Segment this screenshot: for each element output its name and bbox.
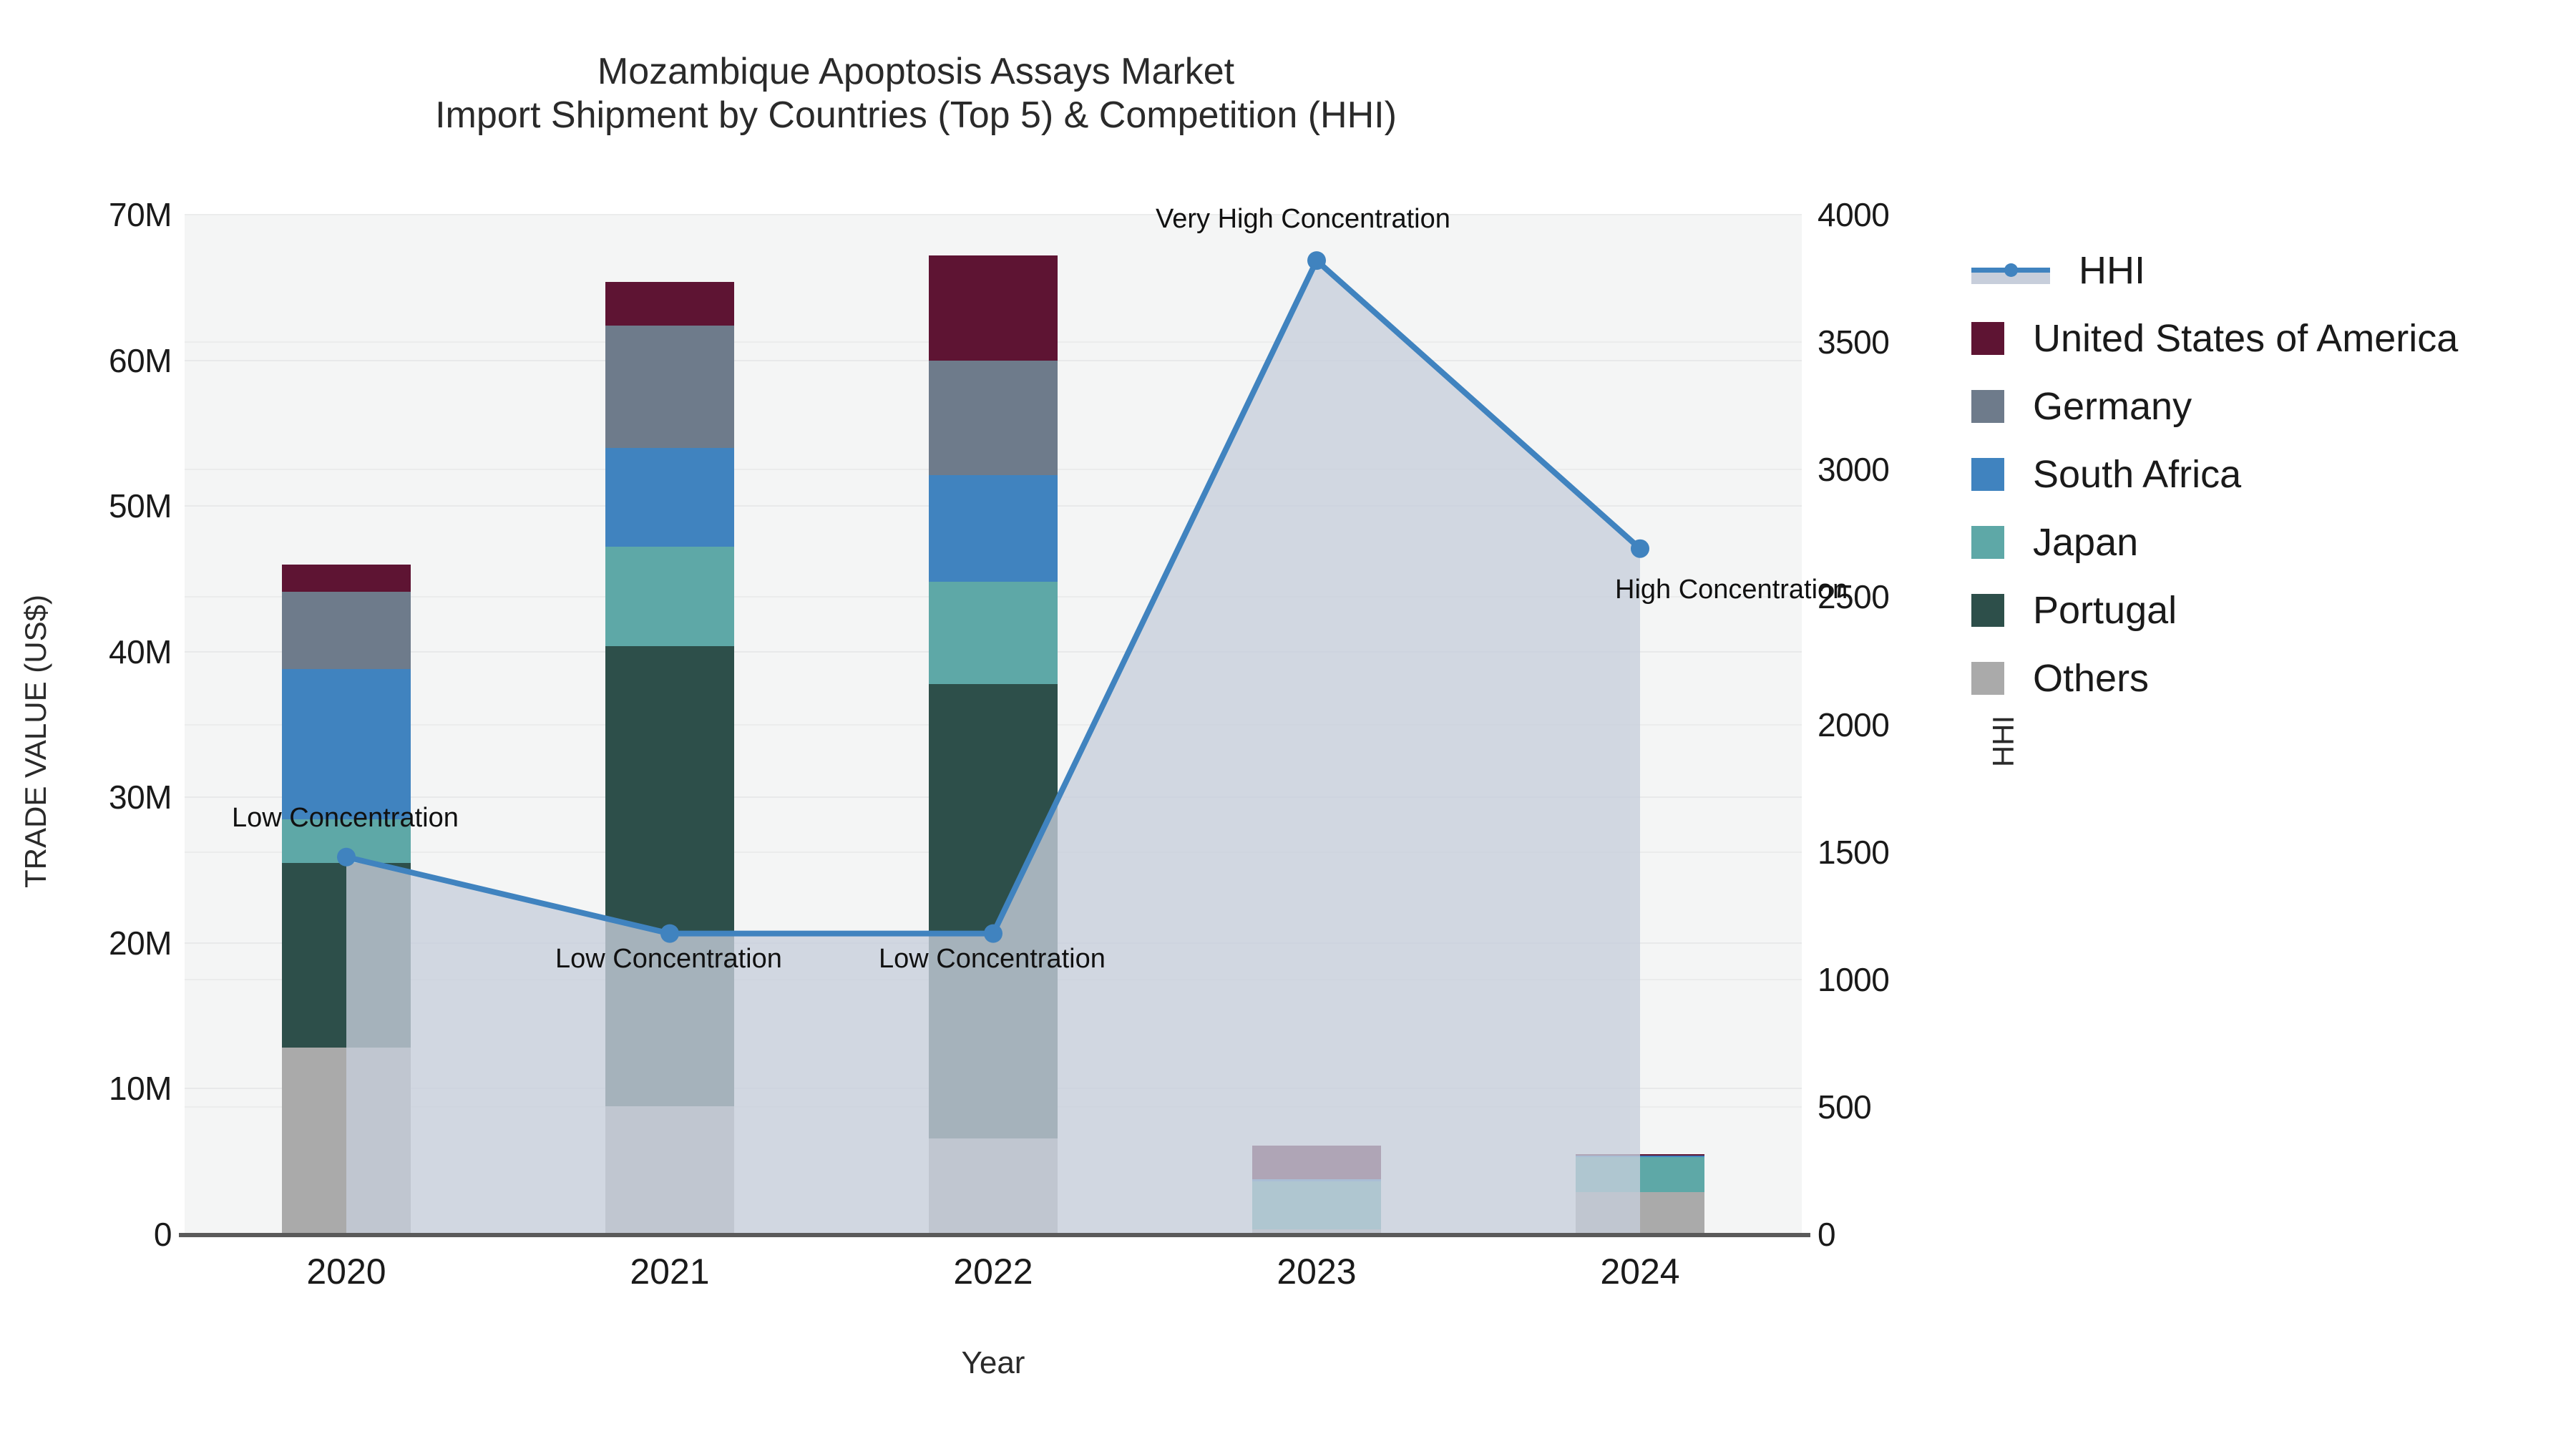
y-axis-right-tick: 3500 — [1818, 323, 1989, 361]
legend-swatch-icon — [1971, 662, 2004, 695]
chart-title: Mozambique Apoptosis Assays Market — [0, 50, 1832, 94]
hhi-data-point[interactable] — [984, 924, 1002, 943]
x-axis-line — [179, 1233, 1810, 1237]
hhi-point-annotation: Very High Concentration — [1156, 204, 1450, 235]
legend-line-marker-icon — [1971, 254, 2050, 287]
legend-item-germany[interactable]: Germany — [1971, 372, 2565, 440]
legend-item-others[interactable]: Others — [1971, 644, 2565, 712]
legend-swatch-icon — [1971, 458, 2004, 491]
legend-item-japan[interactable]: Japan — [1971, 508, 2565, 576]
legend-item-south-africa[interactable]: South Africa — [1971, 440, 2565, 508]
hhi-point-annotation: High Concentration — [1615, 575, 1848, 605]
legend-item-hhi[interactable]: HHI — [1971, 236, 2565, 304]
chart-figure: Mozambique Apoptosis Assays Market Impor… — [0, 0, 2576, 1449]
hhi-data-point[interactable] — [660, 924, 679, 943]
hhi-point-annotation: Low Concentration — [879, 944, 1106, 975]
x-axis-tick-2023: 2023 — [1188, 1251, 1445, 1292]
hhi-series-layer — [185, 215, 1802, 1234]
legend-item-label: Others — [2033, 656, 2149, 701]
legend-item-label: HHI — [2079, 248, 2145, 293]
legend-item-label: South Africa — [2033, 452, 2241, 497]
y-axis-left-title: TRADE VALUE (US$) — [19, 469, 53, 1013]
hhi-data-point[interactable] — [1307, 251, 1326, 270]
hhi-point-annotation: Low Concentration — [232, 803, 459, 834]
y-axis-right-tick: 0 — [1818, 1215, 1989, 1254]
x-axis-tick-2022: 2022 — [864, 1251, 1122, 1292]
legend-item-label: Germany — [2033, 384, 2192, 429]
chart-legend: HHIUnited States of AmericaGermanySouth … — [1971, 236, 2565, 712]
legend-item-label: Japan — [2033, 520, 2138, 565]
hhi-point-annotation: Low Concentration — [555, 944, 782, 975]
y-axis-right-tick: 1000 — [1818, 960, 1989, 999]
y-axis-right-tick: 4000 — [1818, 195, 1989, 234]
chart-title-block: Mozambique Apoptosis Assays Market Impor… — [0, 50, 1832, 138]
legend-item-united-states-of-america[interactable]: United States of America — [1971, 304, 2565, 372]
hhi-data-point[interactable] — [337, 848, 356, 867]
legend-item-label: United States of America — [2033, 316, 2458, 361]
y-axis-left-tick: 60M — [7, 341, 172, 380]
legend-item-portugal[interactable]: Portugal — [1971, 576, 2565, 644]
y-axis-left-tick: 70M — [7, 195, 172, 234]
legend-item-label: Portugal — [2033, 588, 2177, 633]
y-axis-left-tick: 0 — [7, 1215, 172, 1254]
y-axis-left-tick: 10M — [7, 1069, 172, 1108]
legend-swatch-icon — [1971, 390, 2004, 423]
y-axis-right-tick: 2000 — [1818, 706, 1989, 744]
chart-subtitle: Import Shipment by Countries (Top 5) & C… — [0, 94, 1832, 137]
x-axis-tick-2024: 2024 — [1511, 1251, 1769, 1292]
legend-swatch-icon — [1971, 322, 2004, 355]
hhi-area-fill — [346, 260, 1640, 1234]
legend-swatch-icon — [1971, 526, 2004, 559]
x-axis-tick-2020: 2020 — [218, 1251, 475, 1292]
legend-line-dot — [2004, 263, 2018, 277]
y-axis-right-tick: 500 — [1818, 1088, 1989, 1126]
hhi-data-point[interactable] — [1631, 540, 1649, 558]
legend-swatch-icon — [1971, 594, 2004, 627]
y-axis-right-tick: 3000 — [1818, 450, 1989, 489]
x-axis-tick-2021: 2021 — [541, 1251, 799, 1292]
x-axis-title: Year — [185, 1345, 1802, 1381]
y-axis-right-tick: 1500 — [1818, 833, 1989, 872]
